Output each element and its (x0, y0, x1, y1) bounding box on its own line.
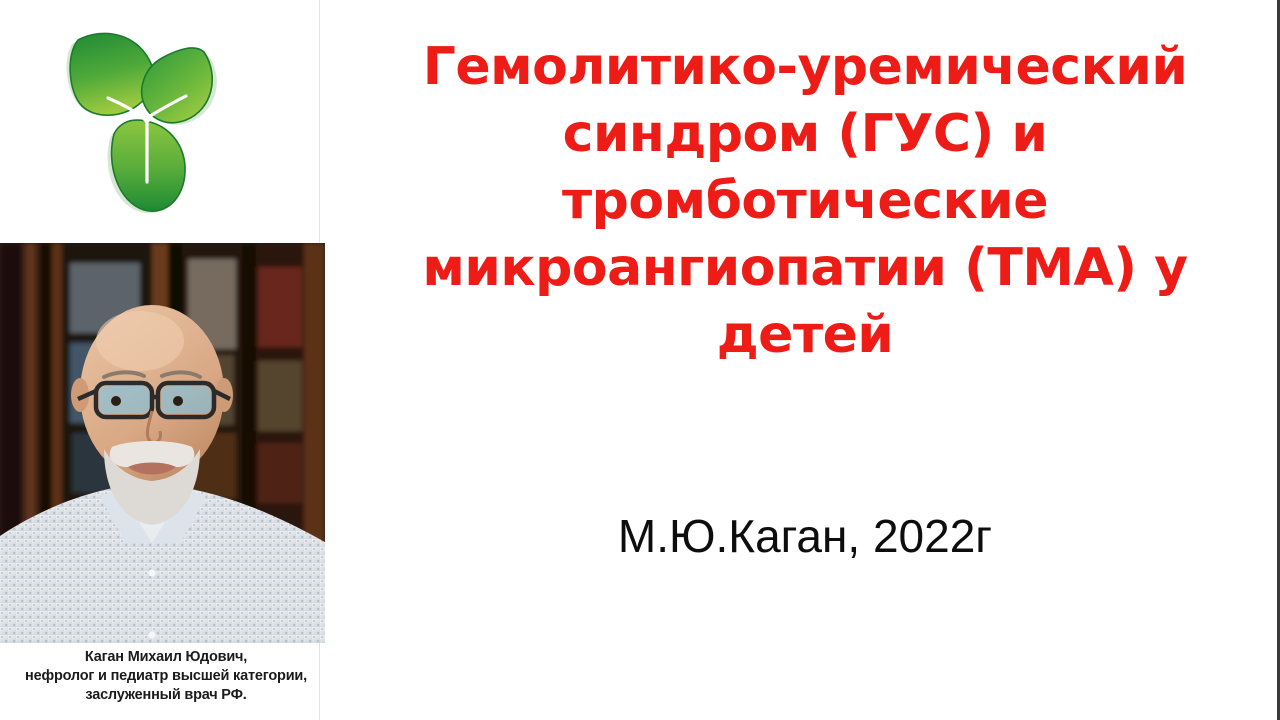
slide-title-line-5: детей (385, 302, 1225, 369)
author-and-year: М.Ю.Каган, 2022г (385, 508, 1225, 564)
slide-title-line-4: микроангиопатии (ТМА) у (385, 235, 1225, 302)
speaker-caption-line-2: нефролог и педиатр высшей категории, (0, 667, 332, 686)
slide-main-area: Гемолитико-уремический синдром (ГУС) и т… (330, 0, 1275, 720)
speaker-caption-line-3: заслуженный врач РФ. (0, 686, 332, 705)
speaker-caption-line-1: Каган Михаил Юдович, (0, 648, 332, 667)
slide-title: Гемолитико-уремический синдром (ГУС) и т… (385, 34, 1225, 369)
green-trefoil-leaf-logo (52, 22, 227, 222)
presentation-slide: Каган Михаил Юдович, нефролог и педиатр … (0, 0, 1280, 720)
speaker-webcam-photo (0, 243, 325, 643)
left-column: Каган Михаил Юдович, нефролог и педиатр … (0, 0, 319, 720)
slide-title-line-2: синдром (ГУС) и (385, 101, 1225, 168)
slide-title-line-1: Гемолитико-уремический (385, 34, 1225, 101)
slide-title-line-3: тромботические (385, 168, 1225, 235)
speaker-caption: Каган Михаил Юдович, нефролог и педиатр … (0, 648, 332, 705)
